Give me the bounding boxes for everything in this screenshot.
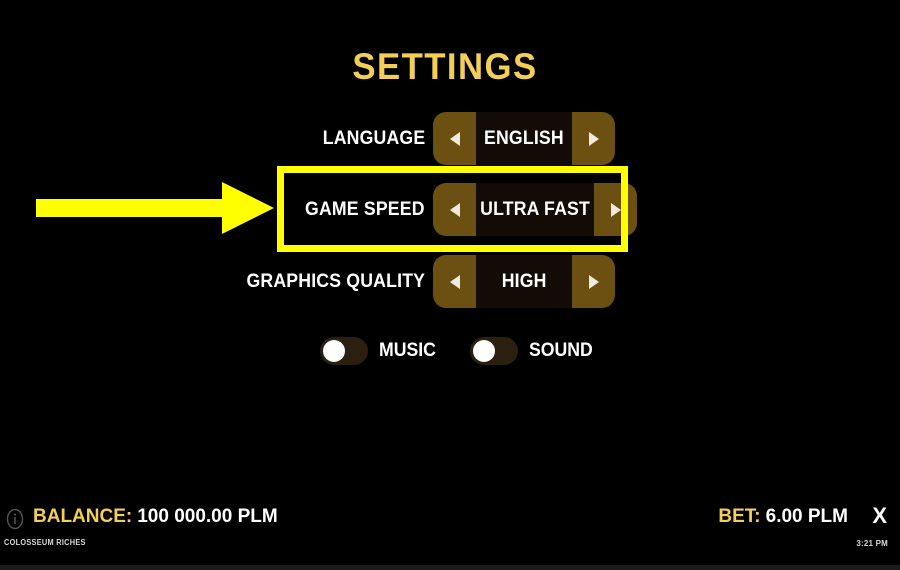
language-value: ENGLISH xyxy=(476,112,572,165)
balance-label: BALANCE: xyxy=(33,506,132,527)
setting-label-graphics-quality: GRAPHICS QUALITY xyxy=(246,255,425,308)
music-toggle-group[interactable]: MUSIC xyxy=(320,334,440,368)
bet-display: BET:6.00 PLM xyxy=(718,506,848,528)
setting-row-graphics-quality: GRAPHICS QUALITY HIGH xyxy=(0,255,900,308)
page-title: SETTINGS xyxy=(27,46,864,88)
sound-toggle-switch[interactable] xyxy=(470,337,518,365)
language-prev-button[interactable] xyxy=(433,112,476,165)
clock: 3:21 PM xyxy=(856,539,888,548)
bet-label: BET: xyxy=(718,506,760,527)
game-speed-value: ULTRA FAST xyxy=(476,183,594,236)
right-arrow-icon xyxy=(36,180,274,236)
balance-value: 100 000.00 PLM xyxy=(137,506,277,527)
caret-left-icon xyxy=(450,203,460,217)
info-circle-icon[interactable] xyxy=(4,508,26,530)
music-toggle-switch[interactable] xyxy=(320,337,368,365)
caret-right-icon xyxy=(611,203,621,217)
music-toggle-label: MUSIC xyxy=(379,340,436,362)
balance-display: BALANCE:100 000.00 PLM xyxy=(33,506,278,528)
graphics-quality-next-button[interactable] xyxy=(572,255,615,308)
caret-right-icon xyxy=(589,275,599,289)
game-speed-next-button[interactable] xyxy=(594,183,637,236)
game-screen: SETTINGS LANGUAGE ENGLISH GAME SPEED ULT… xyxy=(0,0,900,570)
music-toggle-knob xyxy=(323,340,345,362)
sound-toggle-label: SOUND xyxy=(529,340,593,362)
caret-right-icon xyxy=(589,132,599,146)
language-value-text: ENGLISH xyxy=(484,128,564,150)
bottom-strip xyxy=(0,565,900,570)
graphics-quality-prev-button[interactable] xyxy=(433,255,476,308)
graphics-quality-value-text: HIGH xyxy=(502,271,547,293)
graphics-quality-value: HIGH xyxy=(476,255,572,308)
game-name: COLOSSEUM RICHES xyxy=(4,538,86,547)
sound-toggle-knob xyxy=(473,340,495,362)
bottom-bar: BALANCE:100 000.00 PLM COLOSSEUM RICHES … xyxy=(0,500,900,570)
setting-row-language: LANGUAGE ENGLISH xyxy=(0,112,900,165)
caret-left-icon xyxy=(450,132,460,146)
close-button[interactable]: X xyxy=(872,504,887,528)
language-next-button[interactable] xyxy=(572,112,615,165)
game-speed-prev-button[interactable] xyxy=(433,183,476,236)
toggles-row: MUSIC SOUND xyxy=(0,334,900,368)
graphics-quality-selector[interactable]: HIGH xyxy=(433,255,615,308)
language-selector[interactable]: ENGLISH xyxy=(433,112,615,165)
setting-label-language: LANGUAGE xyxy=(322,112,425,165)
caret-left-icon xyxy=(450,275,460,289)
game-speed-selector[interactable]: ULTRA FAST xyxy=(433,183,615,236)
bet-value: 6.00 PLM xyxy=(766,506,848,527)
setting-label-game-speed: GAME SPEED xyxy=(305,183,425,236)
game-speed-value-text: ULTRA FAST xyxy=(480,199,590,221)
sound-toggle-group[interactable]: SOUND xyxy=(470,334,598,368)
